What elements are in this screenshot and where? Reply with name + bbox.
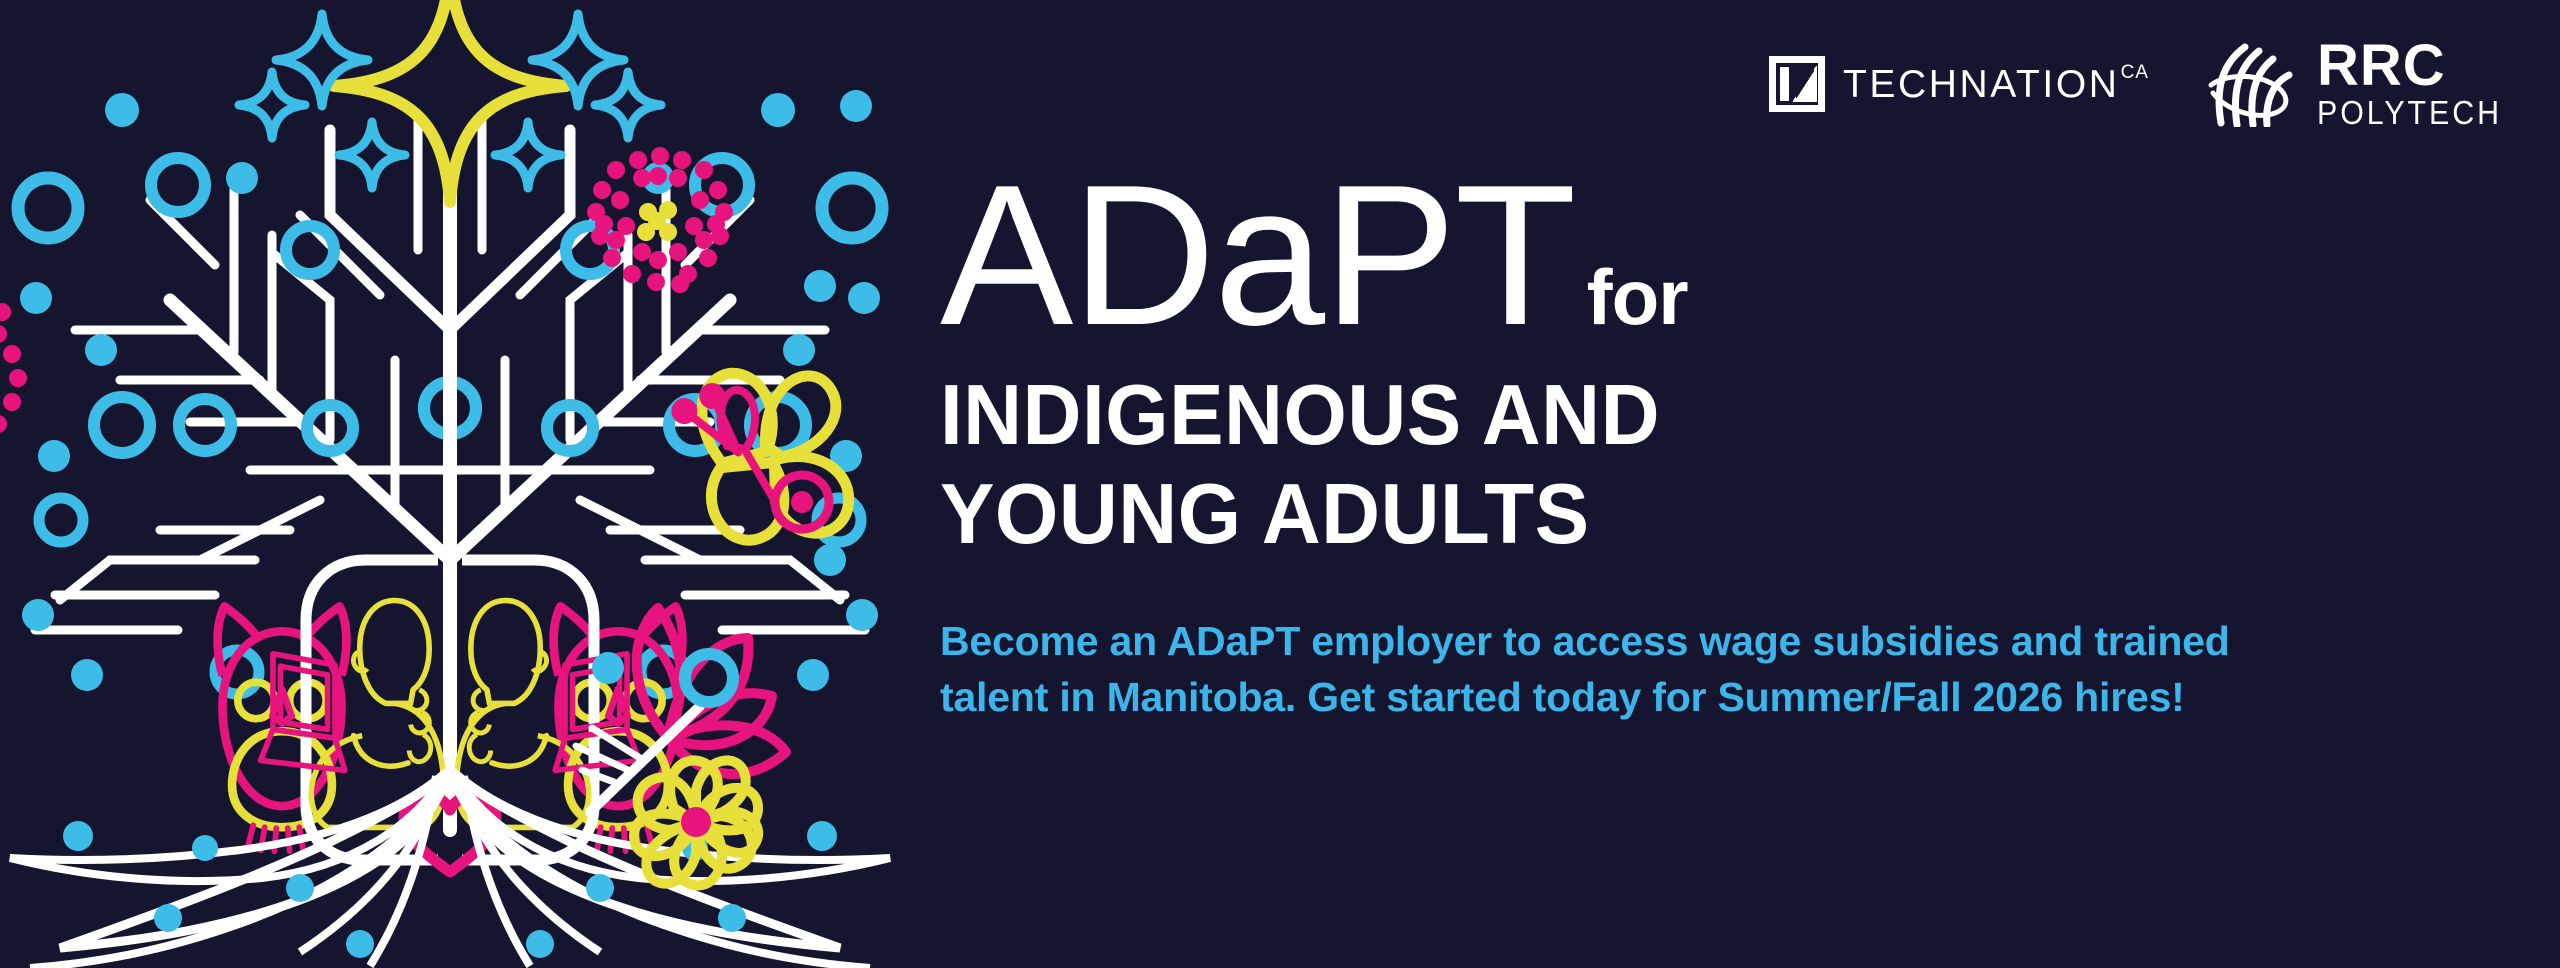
audience-line-1: INDIGENOUS AND	[940, 366, 2438, 465]
technation-country-superscript: CA	[2121, 63, 2149, 82]
pinwheel-center	[681, 807, 711, 837]
lede-paragraph: Become an ADaPT employer to access wage …	[940, 613, 2500, 726]
title-connector: for	[1587, 258, 1688, 336]
program-title-row: ADaPT for	[940, 168, 2500, 344]
circuit-tree-illustration	[0, 0, 900, 968]
technation-wordmark: TECHNATION	[1843, 65, 2120, 104]
technation-n-mark-icon	[1769, 56, 1825, 112]
banner-copy: ADaPT for INDIGENOUS AND YOUNG ADULTS Be…	[940, 168, 2500, 726]
rrc-polytech-logo[interactable]: RRC POLYTECH	[2205, 38, 2518, 130]
lotus-node-dot	[592, 652, 624, 684]
technation-logo[interactable]: TECHNATION CA	[1769, 56, 2149, 112]
audience-line-2: YOUNG ADULTS	[940, 465, 2438, 564]
partner-logo-bar: TECHNATION CA RRC POLYTECH	[1769, 38, 2518, 130]
rrc-polytech-subtext: POLYTECH	[2317, 96, 2502, 131]
lede-line-2: talent in Manitoba. Get started today fo…	[940, 669, 2500, 726]
audience-subtitle: INDIGENOUS AND YOUNG ADULTS	[940, 366, 2438, 565]
rrc-swirl-mark-icon	[2205, 41, 2301, 127]
page-title: ADaPT	[940, 168, 1575, 344]
lede-line-1: Become an ADaPT employer to access wage …	[940, 613, 2500, 670]
adapt-program-banner: TECHNATION CA RRC POLYTECH ADa	[0, 0, 2560, 968]
rrc-wordmark: RRC	[2317, 38, 2518, 94]
